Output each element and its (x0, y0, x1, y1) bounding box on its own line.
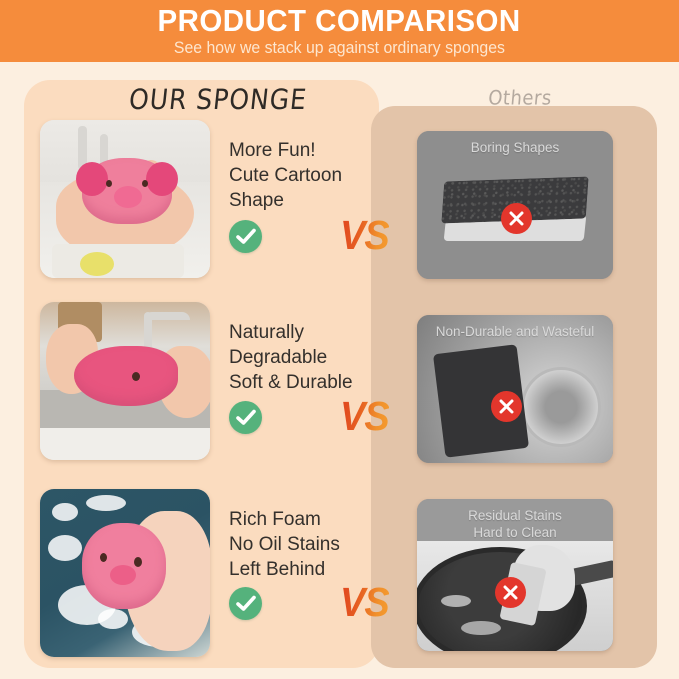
our-sponge-photo (40, 302, 210, 460)
feature-line: Cute Cartoon (229, 163, 389, 188)
feature-line: Rich Foam (229, 507, 389, 532)
others-label: Non-Durable and Wasteful (417, 315, 613, 341)
others-label: Boring Shapes (417, 131, 613, 157)
vs-label: VS (340, 394, 389, 440)
our-sponge-photo (40, 489, 210, 657)
x-icon (501, 203, 532, 234)
feature-text: Naturally Degradable Soft & Durable (229, 320, 389, 395)
feature-line: Left Behind (229, 557, 389, 582)
page-subtitle: See how we stack up against ordinary spo… (174, 39, 505, 57)
vs-label: VS (340, 213, 389, 259)
feature-line: Naturally (229, 320, 389, 345)
x-icon (491, 391, 522, 422)
our-sponge-photo (40, 120, 210, 278)
infographic-page: PRODUCT COMPARISON See how we stack up a… (0, 0, 679, 679)
vs-label: VS (340, 580, 389, 626)
others-photo: Non-Durable and Wasteful (417, 315, 613, 463)
feature-text: More Fun! Cute Cartoon Shape (229, 138, 389, 213)
others-label: Residual Stains Hard to Clean (417, 499, 613, 542)
column-heading-others: Others (439, 87, 601, 110)
header-banner: PRODUCT COMPARISON See how we stack up a… (0, 0, 679, 62)
page-title: PRODUCT COMPARISON (158, 5, 521, 37)
check-icon (229, 401, 262, 434)
feature-line: Shape (229, 188, 389, 213)
feature-text: Rich Foam No Oil Stains Left Behind (229, 507, 389, 582)
check-icon (229, 220, 262, 253)
feature-line: Degradable (229, 345, 389, 370)
others-photo: Boring Shapes (417, 131, 613, 279)
feature-line: No Oil Stains (229, 532, 389, 557)
feature-line: Soft & Durable (229, 370, 389, 395)
check-icon (229, 587, 262, 620)
others-photo: Residual Stains Hard to Clean (417, 499, 613, 651)
x-icon (495, 577, 526, 608)
feature-line: More Fun! (229, 138, 389, 163)
column-heading-ours: OUR SPONGE (106, 83, 329, 115)
